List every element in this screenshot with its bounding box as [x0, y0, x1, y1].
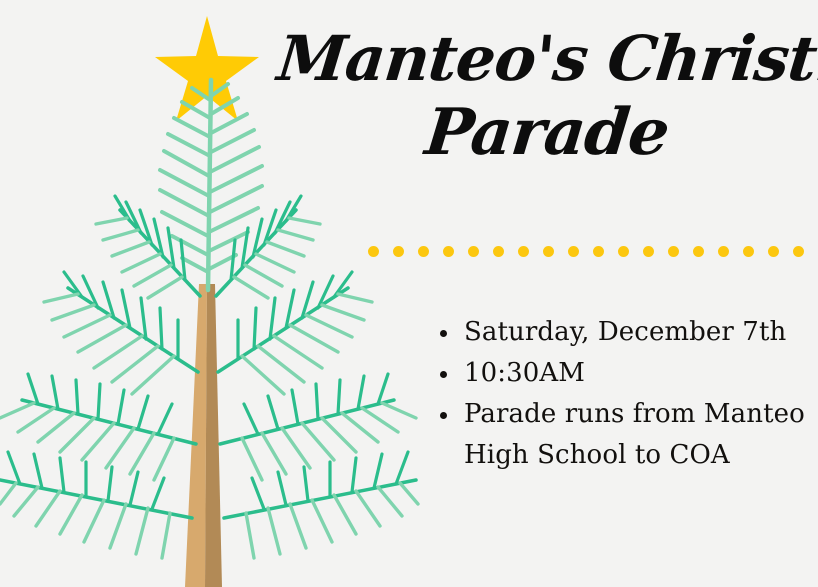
divider-dot	[593, 246, 604, 257]
divider-dot	[793, 246, 804, 257]
divider-dot	[518, 246, 529, 257]
branch-left-lower	[0, 374, 196, 480]
branch-right-bottom	[224, 452, 418, 558]
branch-left-upper	[96, 196, 200, 298]
branch-spire	[160, 80, 262, 290]
branch-left-bottom	[0, 452, 192, 558]
divider-dot	[693, 246, 704, 257]
divider-dot	[368, 246, 379, 257]
divider-dot	[543, 246, 554, 257]
tree-trunk-left	[185, 284, 207, 587]
title-line-2: Parade	[274, 96, 818, 170]
event-detail-item: 10:30AM	[434, 353, 810, 394]
branch-right-lower	[220, 374, 416, 480]
tree-star-icon	[155, 16, 259, 121]
event-details-list: Saturday, December 7th10:30AMParade runs…	[434, 312, 810, 476]
poster-canvas: Manteo's Christmas Parade Saturday, Dece…	[0, 0, 818, 587]
divider-dot	[668, 246, 679, 257]
divider-dot	[618, 246, 629, 257]
tree-trunk-right	[205, 284, 222, 587]
branch-right-upper	[216, 196, 320, 298]
divider-dot	[493, 246, 504, 257]
divider-dot	[768, 246, 779, 257]
divider-dot	[568, 246, 579, 257]
event-detail-item: Saturday, December 7th	[434, 312, 810, 353]
divider-dot	[443, 246, 454, 257]
branch-left-mid	[44, 272, 198, 394]
title-line-1: Manteo's Christmas	[274, 22, 818, 96]
divider-dot	[743, 246, 754, 257]
divider-dot	[418, 246, 429, 257]
poster-title: Manteo's Christmas Parade	[278, 22, 816, 170]
branch-right-mid	[218, 272, 372, 394]
divider-dot	[468, 246, 479, 257]
divider-dot	[643, 246, 654, 257]
dotted-divider-icon	[368, 244, 818, 258]
divider-dot	[718, 246, 729, 257]
divider-dot	[393, 246, 404, 257]
event-detail-item: Parade runs from Manteo High School to C…	[434, 394, 810, 476]
